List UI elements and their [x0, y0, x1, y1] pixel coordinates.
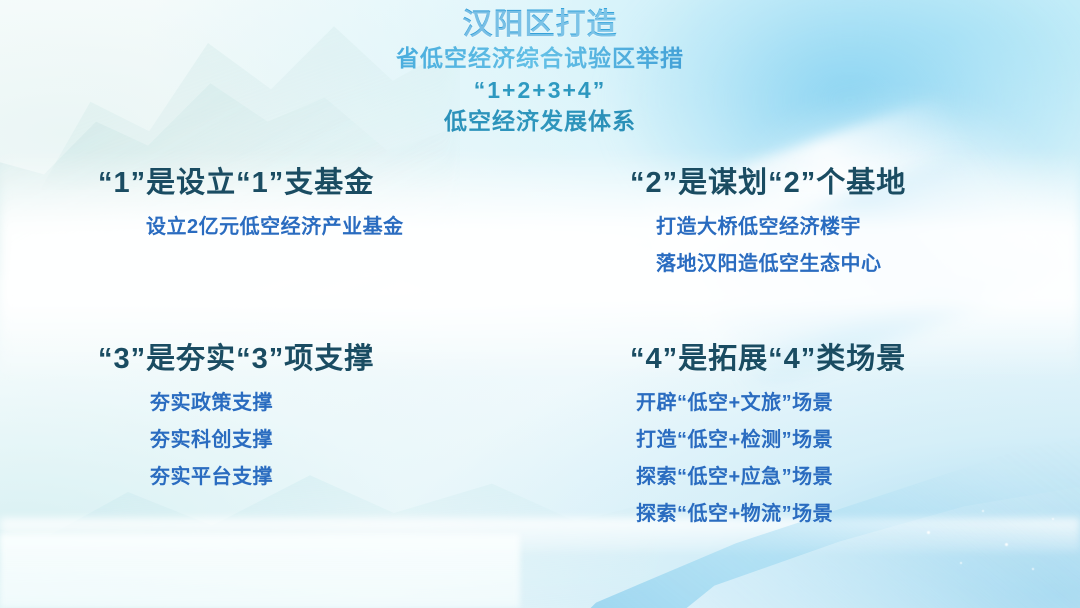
sparkle-dot: [1032, 568, 1034, 570]
measure-item: 探索“低空+物流”场景: [636, 504, 1042, 524]
measure-item: 打造大桥低空经济楼宇: [656, 217, 1042, 237]
measure-item: 夯实平台支撑: [150, 467, 502, 487]
measure-items-3: 夯实政策支撑 夯实科创支撑 夯实平台支撑: [38, 393, 502, 487]
measure-item: 打造“低空+检测”场景: [636, 430, 1042, 450]
title-line-4: 低空经济发展体系: [0, 109, 1080, 135]
measure-heading-1: “1”是设立“1”支基金: [98, 166, 502, 201]
title-line-3: “1+2+3+4”: [0, 78, 1080, 104]
measure-block-1: “1”是设立“1”支基金 设立2亿元低空经济产业基金: [0, 166, 540, 316]
measure-item: 开辟“低空+文旅”场景: [636, 393, 1042, 413]
infographic-poster: 汉阳区打造 省低空经济综合试验区举措 “1+2+3+4” 低空经济发展体系 “1…: [0, 0, 1080, 608]
measure-heading-3: “3”是夯实“3”项支撑: [98, 342, 502, 377]
measure-item: 夯实政策支撑: [150, 393, 502, 413]
measure-items-1: 设立2亿元低空经济产业基金: [38, 217, 502, 237]
title-line-2: 省低空经济综合试验区举措: [0, 46, 1080, 72]
title-line-1: 汉阳区打造: [0, 8, 1080, 42]
measure-items-4: 开辟“低空+文旅”场景 打造“低空+检测”场景 探索“低空+应急”场景 探索“低…: [578, 393, 1042, 524]
content-grid: “1”是设立“1”支基金 设立2亿元低空经济产业基金 “2”是谋划“2”个基地 …: [0, 166, 1080, 566]
measure-item: 落地汉阳造低空生态中心: [656, 254, 1042, 274]
measure-block-4: “4”是拓展“4”类场景 开辟“低空+文旅”场景 打造“低空+检测”场景 探索“…: [540, 342, 1080, 567]
measure-item: 夯实科创支撑: [150, 430, 502, 450]
poster-title: 汉阳区打造 省低空经济综合试验区举措 “1+2+3+4” 低空经济发展体系: [0, 8, 1080, 135]
measure-heading-4: “4”是拓展“4”类场景: [630, 342, 1042, 377]
measure-block-2: “2”是谋划“2”个基地 打造大桥低空经济楼宇 落地汉阳造低空生态中心: [540, 166, 1080, 316]
measure-item: 探索“低空+应急”场景: [636, 467, 1042, 487]
measure-heading-2: “2”是谋划“2”个基地: [630, 166, 1042, 201]
measure-block-3: “3”是夯实“3”项支撑 夯实政策支撑 夯实科创支撑 夯实平台支撑: [0, 342, 540, 567]
measure-items-2: 打造大桥低空经济楼宇 落地汉阳造低空生态中心: [578, 217, 1042, 274]
measure-item: 设立2亿元低空经济产业基金: [146, 217, 502, 237]
